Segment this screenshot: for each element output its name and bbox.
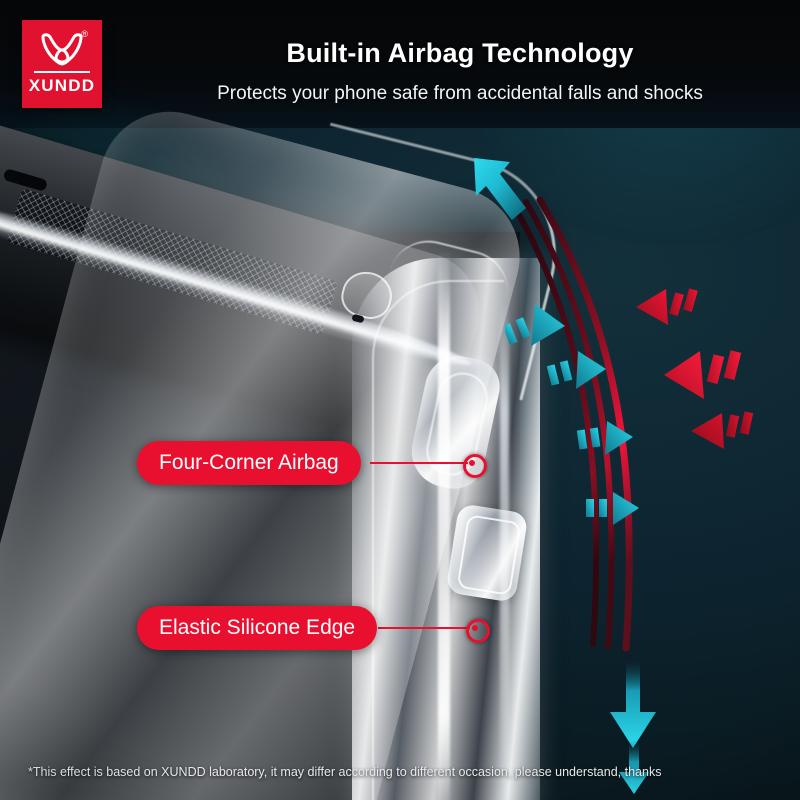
callout-target-marker (463, 454, 487, 478)
callout-leader-line (378, 627, 470, 629)
xundd-butterfly-mark: ® (38, 33, 86, 67)
product-feature-poster: ® XUNDD Built-in Airbag Technology Prote… (0, 0, 800, 800)
page-subtitle: Protects your phone safe from accidental… (130, 83, 790, 105)
cyan-arrow-icon (583, 487, 643, 529)
callout-four-corner-airbag: Four-Corner Airbag (137, 441, 361, 485)
red-arrow-icon (660, 345, 746, 407)
logo-divider (34, 71, 90, 73)
cyan-arrow-icon (575, 415, 637, 459)
page-title: Built-in Airbag Technology (130, 38, 790, 69)
callout-target-marker (466, 619, 490, 643)
brand-logo: ® XUNDD (22, 20, 102, 108)
registered-trademark-symbol: ® (81, 30, 88, 39)
cyan-arrow-icon (505, 300, 569, 350)
brand-name: XUNDD (29, 76, 95, 96)
callout-label: Elastic Silicone Edge (159, 616, 355, 640)
cyan-down-arrow-icon (604, 660, 662, 752)
red-arrow-icon (498, 195, 564, 243)
red-arrow-icon (630, 285, 700, 337)
callout-label: Four-Corner Airbag (159, 451, 339, 475)
red-arrow-icon (686, 405, 756, 457)
callout-leader-line (370, 462, 468, 464)
cyan-arrow-icon (546, 345, 610, 393)
callout-elastic-silicone-edge: Elastic Silicone Edge (137, 606, 377, 650)
disclaimer-text: *This effect is based on XUNDD laborator… (28, 765, 728, 779)
